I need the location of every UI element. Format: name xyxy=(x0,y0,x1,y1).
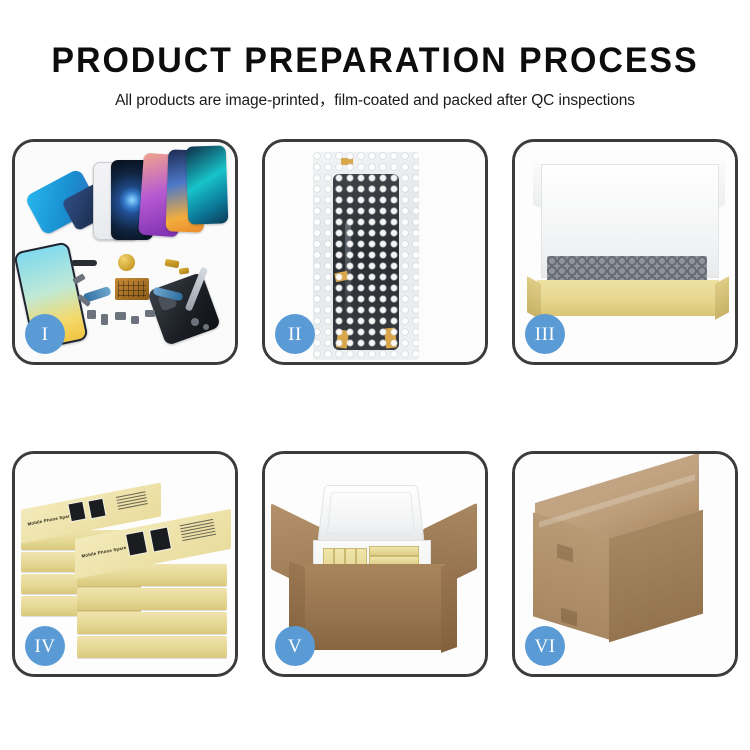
box-label-image-a1 xyxy=(67,501,86,523)
process-step-card-6[interactable]: VI xyxy=(512,451,738,677)
vibration-motor-icon xyxy=(118,254,135,271)
chip-icon-1 xyxy=(87,310,96,319)
step-badge-6: VI xyxy=(525,626,565,666)
inner-box-5 xyxy=(369,546,419,556)
tape-icon-4 xyxy=(384,327,397,348)
page-title: PRODUCT PREPARATION PROCESS xyxy=(11,0,739,81)
screw-icon-1 xyxy=(191,318,199,326)
logic-board-icon xyxy=(115,278,149,300)
carton-body-icon xyxy=(301,564,445,650)
chip-icon-5 xyxy=(145,310,155,317)
box-label-image-b1 xyxy=(125,530,148,556)
bubble-wrap-bag-icon xyxy=(313,152,419,360)
header: PRODUCT PREPARATION PROCESS All products… xyxy=(0,0,750,110)
phone-back-housing-icon xyxy=(147,272,221,346)
teal-phone-icon xyxy=(186,145,229,224)
box-label-image-a2 xyxy=(87,498,106,520)
process-step-card-5[interactable]: V xyxy=(262,451,488,677)
step-badge-4: IV xyxy=(25,626,65,666)
step-badge-1: I xyxy=(25,314,65,354)
stacked-box-r3 xyxy=(77,612,227,634)
screw-icon-2 xyxy=(203,324,209,330)
wrapped-part-icon xyxy=(333,174,399,350)
chip-icon-4 xyxy=(131,316,139,324)
stacked-box-r4 xyxy=(77,636,227,658)
chip-icon-2 xyxy=(101,314,108,325)
speaker-module-icon xyxy=(71,260,97,266)
gold-connector-icon-1 xyxy=(164,259,179,268)
gold-connector-icon-2 xyxy=(179,267,190,274)
kraft-box-front-icon xyxy=(537,280,719,316)
process-step-card-3[interactable]: III xyxy=(512,139,738,365)
page-subtitle: All products are image-printed，film-coat… xyxy=(0,81,750,110)
process-step-card-4[interactable]: Mobile Phone Spare Parts Mobile Phone Sp… xyxy=(12,451,238,677)
box-label-image-b2 xyxy=(149,526,172,552)
process-step-card-2[interactable]: II xyxy=(262,139,488,365)
step-badge-3: III xyxy=(525,314,565,354)
stacked-box-r2 xyxy=(77,588,227,610)
foam-cooler-lid-icon xyxy=(317,485,424,543)
process-step-card-1[interactable]: I xyxy=(12,139,238,365)
product-preparation-infographic: PRODUCT PREPARATION PROCESS All products… xyxy=(0,0,750,750)
step-badge-5: V xyxy=(275,626,315,666)
tape-icon-3 xyxy=(336,329,349,348)
tape-icon-2 xyxy=(334,271,349,283)
chip-icon-3 xyxy=(115,312,126,320)
step-badge-2: II xyxy=(275,314,315,354)
process-step-grid: I II III xyxy=(12,139,738,689)
tape-icon-1 xyxy=(341,158,353,165)
